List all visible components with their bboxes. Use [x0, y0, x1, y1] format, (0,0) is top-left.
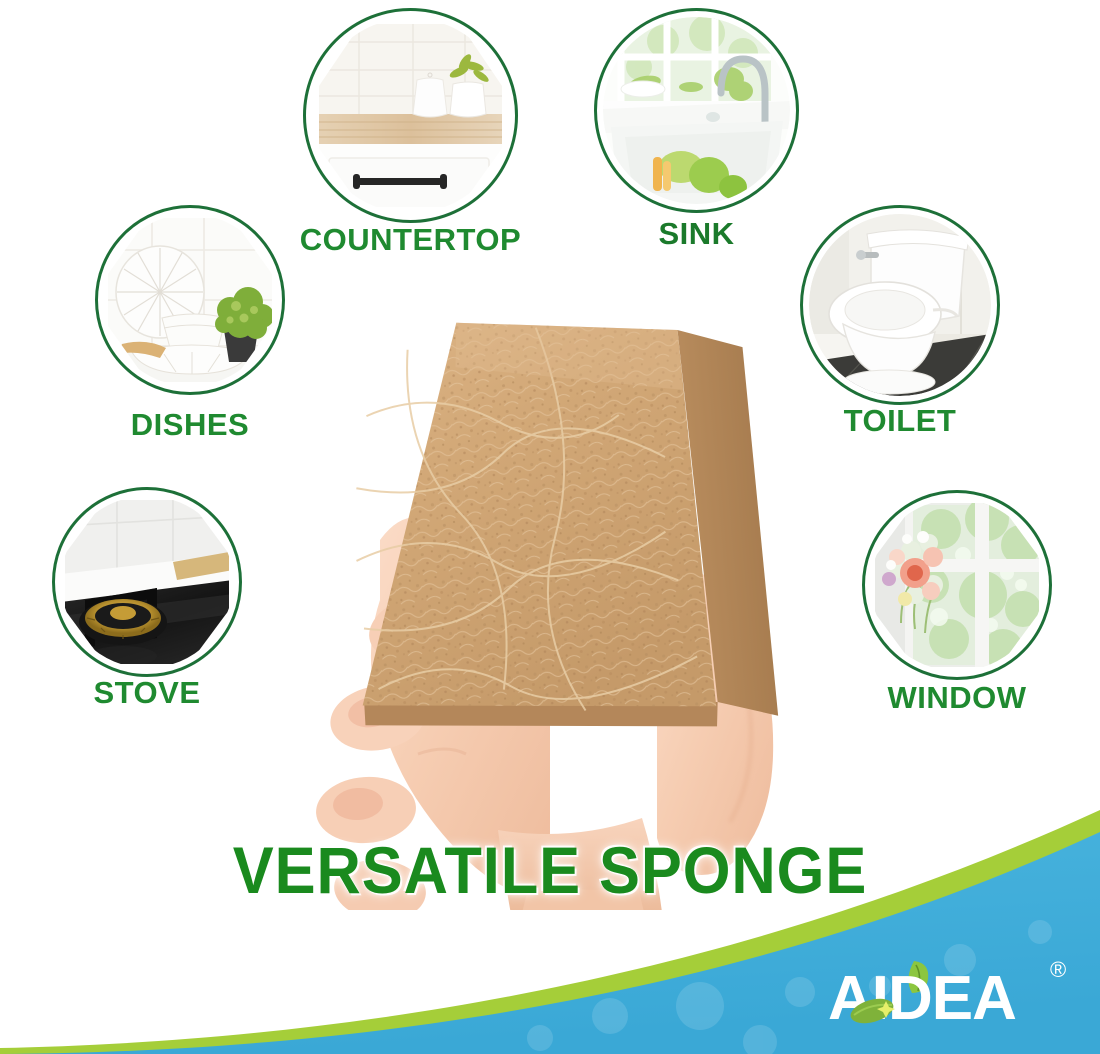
feature-tile-dishes[interactable]: DISHES: [95, 205, 285, 395]
stacked-dishes-photo: [104, 214, 276, 386]
brand-wordmark: AIDEA: [828, 964, 1016, 1033]
gas-stove-photo: [61, 496, 233, 668]
tile-label-stove: STOVE: [0, 675, 297, 711]
page-headline: VERSATILE SPONGE: [39, 832, 1062, 908]
kitchen-countertop-photo: [313, 18, 508, 213]
tile-label-window: WINDOW: [807, 680, 1100, 716]
tile-label-toilet: TOILET: [750, 403, 1050, 439]
window-flowers-photo: [871, 499, 1043, 671]
product-infographic: COUNTERTOP: [0, 0, 1100, 1054]
kitchen-sink-photo: [603, 17, 790, 204]
sponge-block: [312, 284, 795, 775]
feature-tile-window[interactable]: WINDOW: [862, 490, 1052, 680]
brand-logo[interactable]: AIDEA ®: [828, 955, 1078, 1033]
feature-tile-sink[interactable]: SINK: [594, 8, 799, 213]
feature-tile-toilet[interactable]: TOILET: [800, 205, 1000, 405]
toilet-photo: [809, 214, 991, 396]
feature-tile-countertop[interactable]: COUNTERTOP: [303, 8, 518, 223]
feature-tile-stove[interactable]: STOVE: [52, 487, 242, 677]
trademark-symbol: ®: [1050, 957, 1066, 982]
tile-label-dishes: DISHES: [40, 407, 340, 443]
tile-label-countertop: COUNTERTOP: [248, 222, 573, 258]
